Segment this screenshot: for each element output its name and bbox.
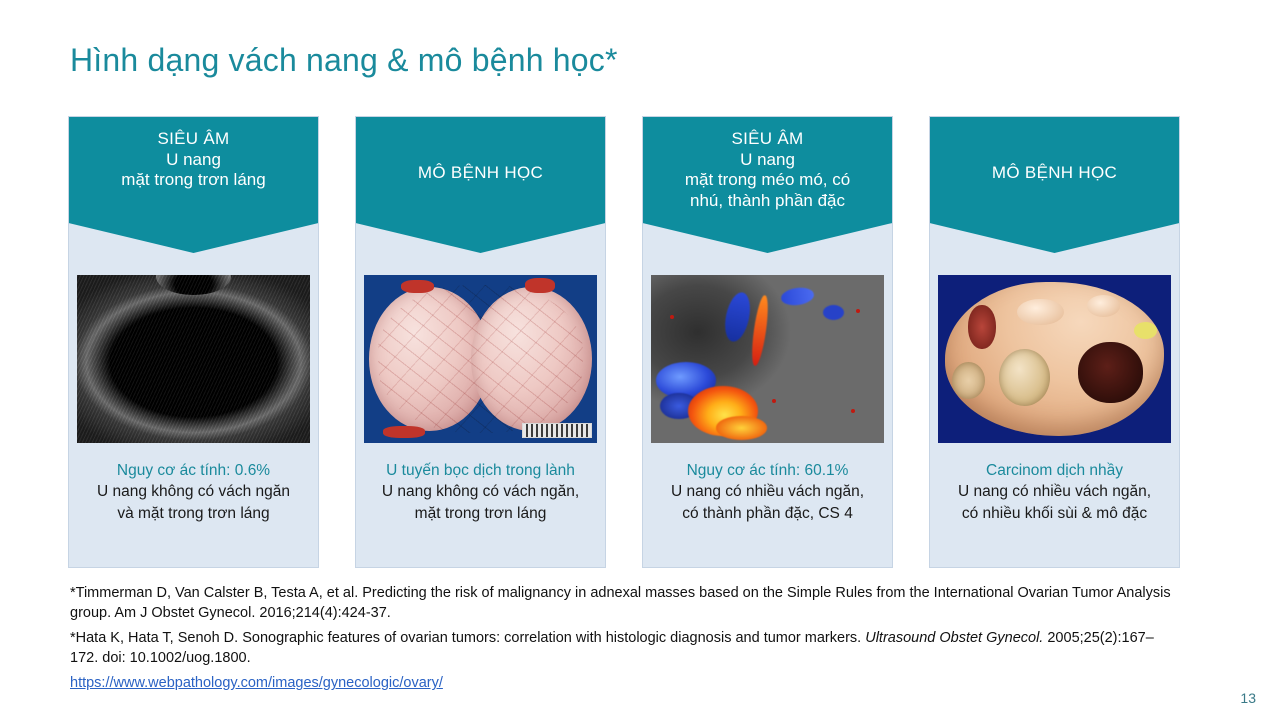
column-header-banner-2: MÔ BỆNH HỌC (356, 117, 605, 253)
header-line-3a: SIÊU ÂM (731, 129, 803, 150)
header-line-1b: U nang (166, 150, 221, 171)
specimen-blood-1 (401, 280, 434, 293)
doppler-speckle-4 (851, 409, 855, 413)
doppler-flow-red-1 (749, 295, 770, 366)
header-line-4a: MÔ BỆNH HỌC (992, 163, 1117, 184)
gross-pathology-benign-image (364, 275, 597, 443)
specimen-fat-area (1134, 322, 1157, 339)
column-ultrasound-malignant: SIÊU ÂM U nang mặt trong méo mó, có nhú,… (642, 116, 893, 568)
caption-1: Nguy cơ ác tính: 0.6% U nang không có vá… (69, 443, 318, 523)
slide-root: Hình dạng vách nang & mô bệnh học* SIÊU … (0, 0, 1280, 720)
column-ultrasound-benign: SIÊU ÂM U nang mặt trong trơn láng Nguy … (68, 116, 319, 568)
caption-body-2a: U nang không có vách ngăn, (366, 482, 595, 501)
column-header-banner-1: SIÊU ÂM U nang mặt trong trơn láng (69, 117, 318, 253)
header-line-1a: SIÊU ÂM (157, 129, 229, 150)
specimen-papillary-2 (1087, 295, 1120, 317)
doppler-speckle-2 (856, 309, 860, 313)
caption-body-4b: có nhiều khối sùi & mô đặc (940, 504, 1169, 523)
column-histology-malignant: MÔ BỆNH HỌC Carcinom dịch nhầy U nang có… (929, 116, 1180, 568)
caption-headline-3: Nguy cơ ác tính: 60.1% (653, 461, 882, 480)
caption-body-3a: U nang có nhiều vách ngăn, (653, 482, 882, 501)
ultrasound-doppler-image (651, 275, 884, 443)
specimen-vessels (378, 285, 583, 433)
reference-2: *Hata K, Hata T, Senoh D. Sonographic fe… (70, 629, 1180, 668)
column-header-banner-4: MÔ BỆNH HỌC (930, 117, 1179, 253)
specimen-papillary-1 (1017, 299, 1064, 326)
doppler-speckle-1 (670, 315, 674, 319)
image-frame-doppler (651, 275, 884, 443)
header-line-3c: mặt trong méo mó, có (685, 170, 850, 191)
image-frame-gross-malignant (938, 275, 1171, 443)
caption-headline-1: Nguy cơ ác tính: 0.6% (79, 461, 308, 480)
image-frame-gross-benign (364, 275, 597, 443)
reference-1: *Timmerman D, Van Calster B, Testa A, et… (70, 584, 1180, 623)
caption-body-2b: mặt trong trơn láng (366, 504, 595, 523)
doppler-speckle-3 (772, 399, 776, 403)
specimen-blood-3 (383, 426, 425, 438)
specimen-blood-2 (525, 278, 555, 293)
specimen-locule-1 (999, 349, 1050, 406)
doppler-flow-blue-3 (823, 305, 844, 320)
specimen-locule-2 (952, 362, 985, 399)
caption-body-3b: có thành phần đặc, CS 4 (653, 504, 882, 523)
references-block: *Timmerman D, Van Calster B, Testa A, et… (70, 584, 1180, 700)
comparison-columns: SIÊU ÂM U nang mặt trong trơn láng Nguy … (68, 116, 1180, 568)
source-url-link[interactable]: https://www.webpathology.com/images/gyne… (70, 675, 443, 691)
caption-body-4a: U nang có nhiều vách ngăn, (940, 482, 1169, 501)
doppler-flow-red-3 (716, 416, 767, 440)
reference-2-journal: Ultrasound Obstet Gynecol. (865, 630, 1043, 646)
page-number: 13 (1240, 690, 1256, 706)
header-line-1c: mặt trong trơn láng (121, 170, 265, 191)
header-line-2a: MÔ BỆNH HỌC (418, 163, 543, 184)
gross-pathology-malignant-image (938, 275, 1171, 443)
specimen-necrosis-1 (1078, 342, 1143, 402)
reference-url-line: https://www.webpathology.com/images/gyne… (70, 674, 1180, 694)
caption-body-1b: và mặt trong trơn láng (79, 504, 308, 523)
header-line-3b: U nang (740, 150, 795, 171)
caption-2: U tuyến bọc dịch trong lành U nang không… (356, 443, 605, 523)
caption-3: Nguy cơ ác tính: 60.1% U nang có nhiều v… (643, 443, 892, 523)
reference-2-part1: *Hata K, Hata T, Senoh D. Sonographic fe… (70, 630, 865, 646)
caption-4: Carcinom dịch nhầy U nang có nhiều vách … (930, 443, 1179, 523)
specimen-ruler (522, 423, 592, 438)
caption-headline-4: Carcinom dịch nhầy (940, 461, 1169, 480)
page-title: Hình dạng vách nang & mô bệnh học* (70, 42, 618, 79)
column-header-banner-3: SIÊU ÂM U nang mặt trong méo mó, có nhú,… (643, 117, 892, 253)
header-line-3d: nhú, thành phần đặc (690, 191, 845, 212)
image-frame-ultrasound-simple-cyst (77, 275, 310, 443)
doppler-flow-blue-2 (780, 286, 815, 307)
doppler-flow-blue-1 (721, 290, 754, 344)
column-histology-benign: MÔ BỆNH HỌC U tuyến bọc dịch trong lành … (355, 116, 606, 568)
specimen-necrosis-2 (968, 305, 996, 349)
ultrasound-simple-cyst-image (77, 275, 310, 443)
caption-body-1a: U nang không có vách ngăn (79, 482, 308, 501)
caption-headline-2: U tuyến bọc dịch trong lành (366, 461, 595, 480)
